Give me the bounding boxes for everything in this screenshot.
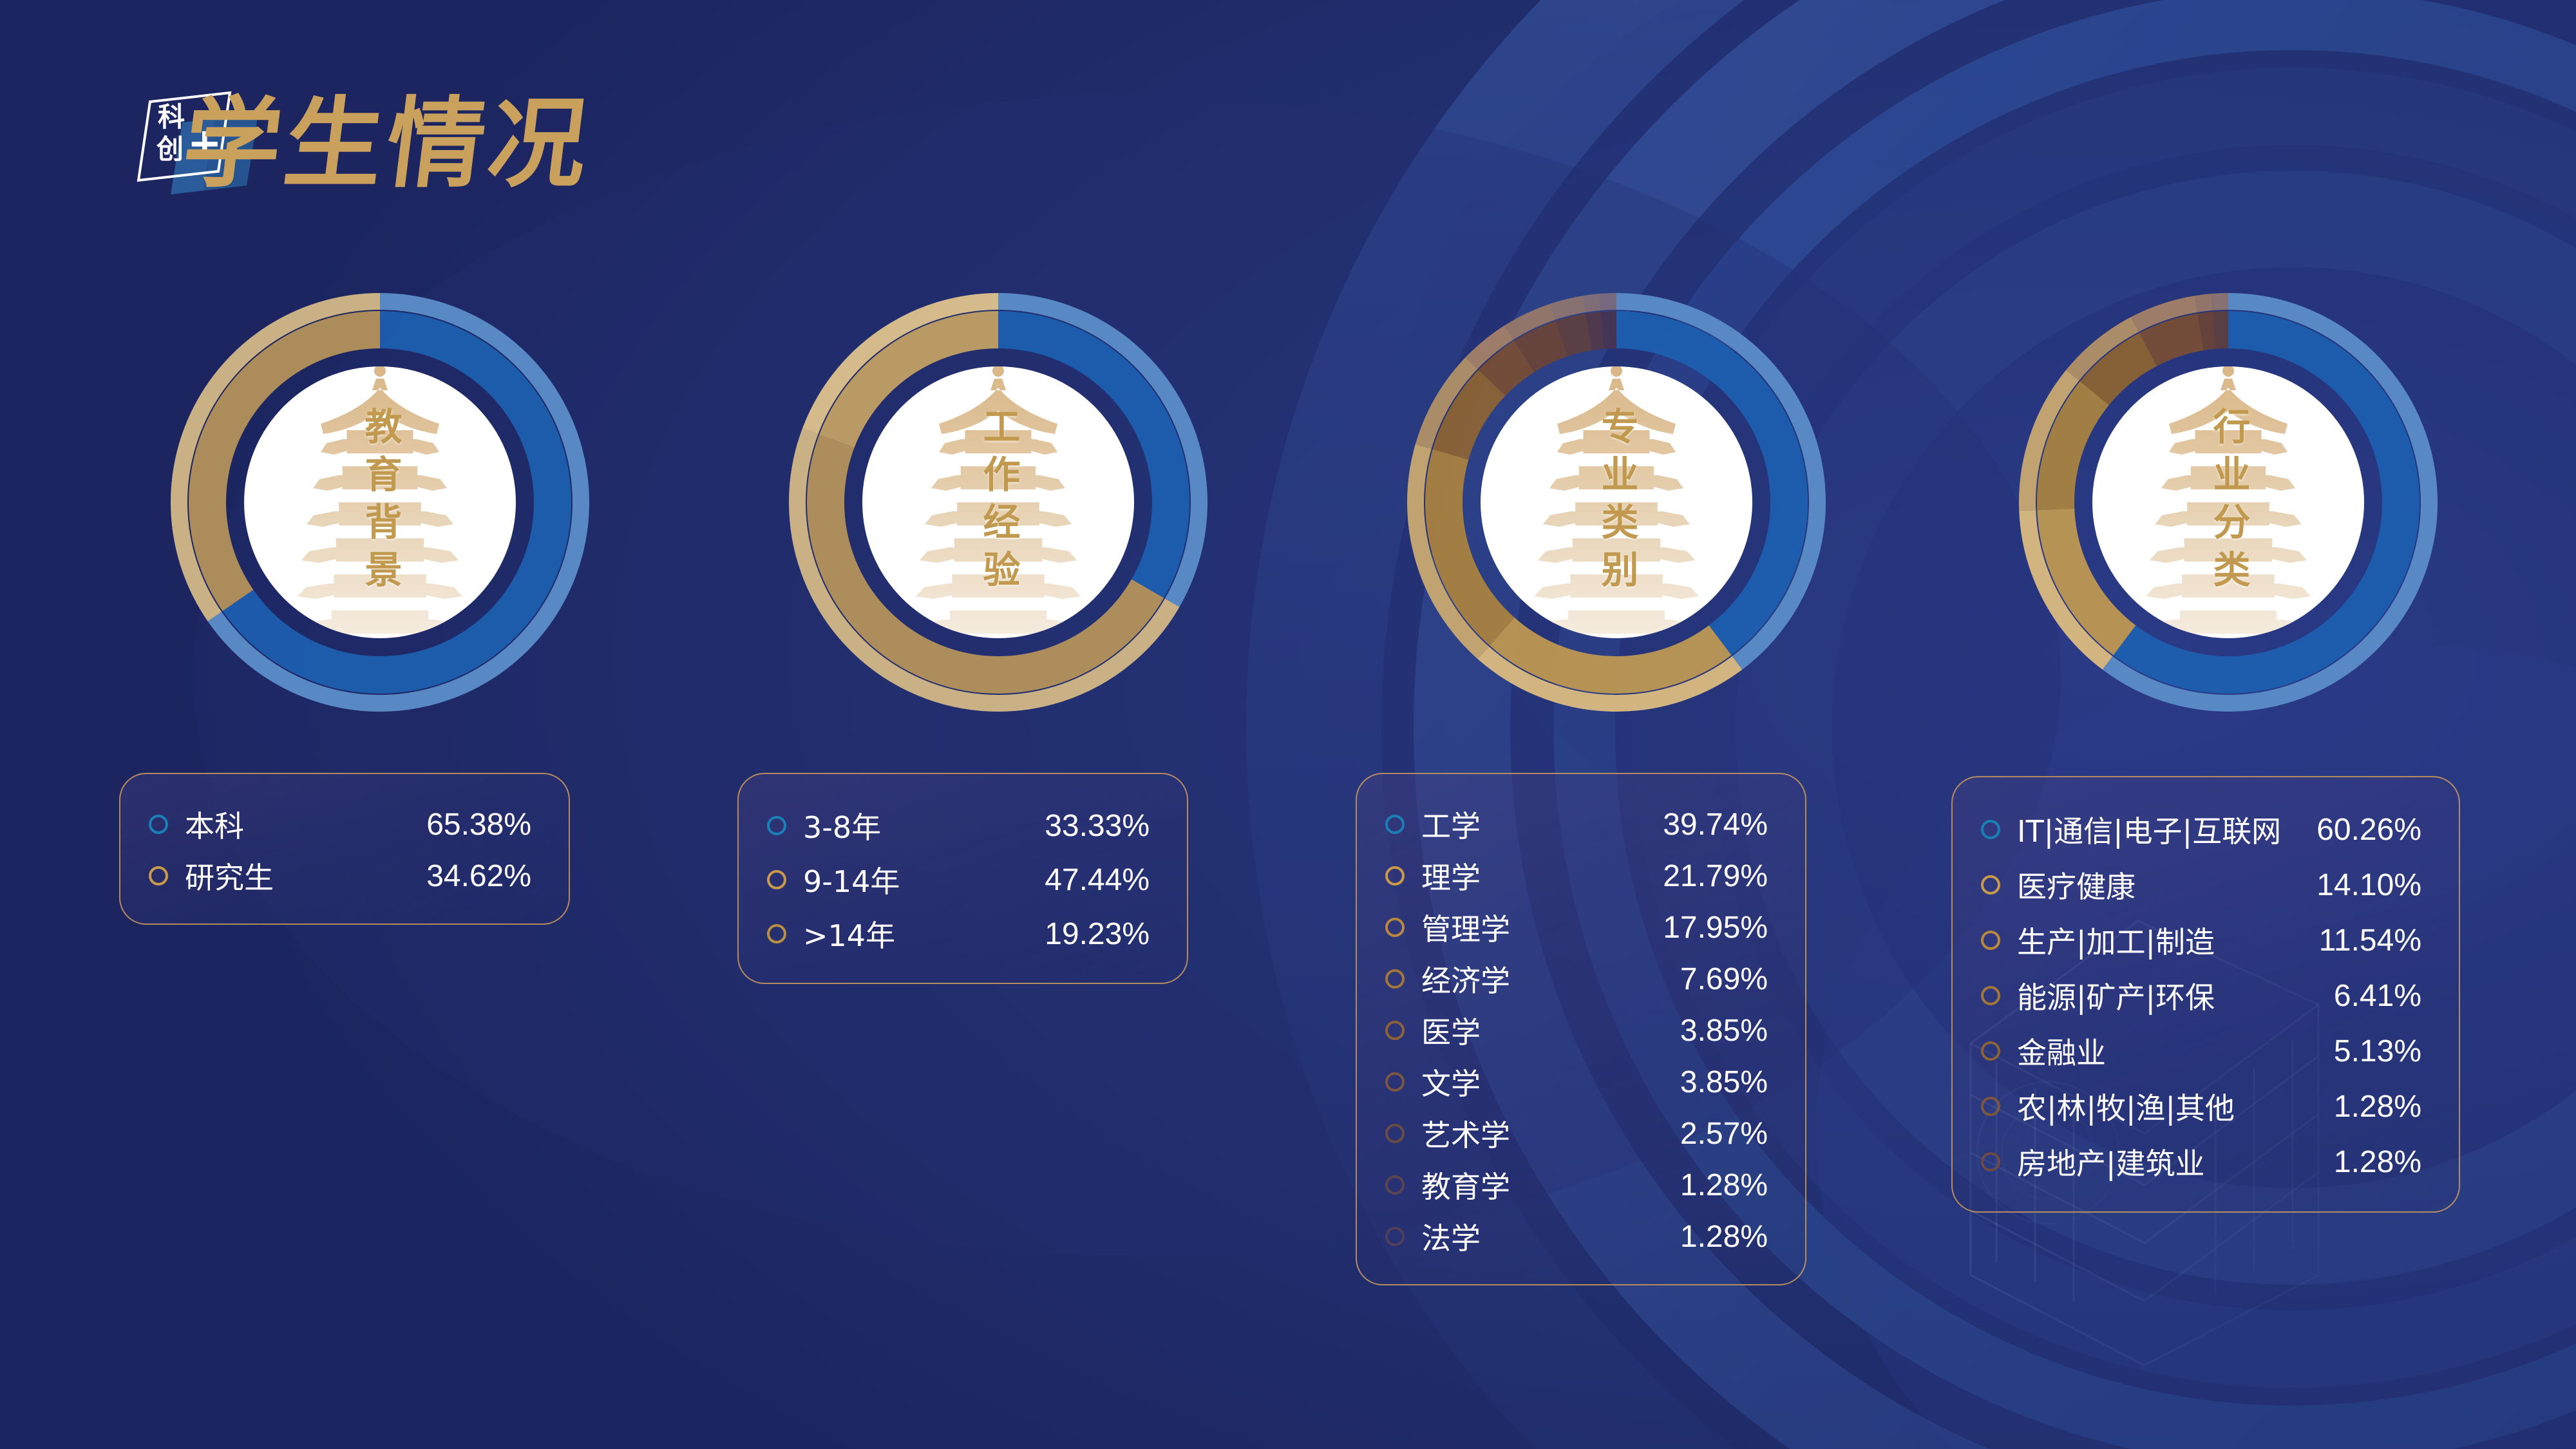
legend-marker-icon xyxy=(767,870,786,889)
slide-header: 科 创 + 学生情况 xyxy=(0,0,2576,270)
donut-outer-segment xyxy=(1600,301,1616,302)
legend-marker-icon xyxy=(1981,1152,2000,1171)
legend-value: 6.41% xyxy=(2308,978,2421,1014)
logo-text-chuang: 创 xyxy=(156,133,184,165)
donut-inner-segment xyxy=(1589,330,1602,332)
legend-row[interactable]: 金融业5.13% xyxy=(1981,1023,2421,1079)
legend-value: 47.44% xyxy=(1019,862,1150,898)
donut-svg-2 xyxy=(1391,277,1842,728)
legend-label: 医疗健康 xyxy=(2017,864,2136,906)
legend-value: 14.10% xyxy=(2291,867,2421,903)
donut-outer-segment xyxy=(1553,304,1584,312)
donut-chart-education-background: 教育背景 xyxy=(155,277,605,728)
donut-inner-segment xyxy=(1602,330,1616,330)
legend-label: IT|通信|电子|互联网 xyxy=(2017,808,2281,851)
chart-block-industry-category: 行业分类 xyxy=(1919,277,2537,728)
legend-row[interactable]: 工学39.74% xyxy=(1385,799,1768,850)
donut-chart-work-experience: 工作经验 xyxy=(773,277,1224,728)
legend-marker-icon xyxy=(1385,1021,1405,1040)
legend-value: 34.62% xyxy=(401,858,531,894)
legend-row[interactable]: 3-8年33.33% xyxy=(767,799,1150,853)
legend-card-education-background: 本科65.38%研究生34.62% xyxy=(119,773,570,925)
legend-value: 21.79% xyxy=(1637,858,1768,894)
legend-row[interactable]: 经济学7.69% xyxy=(1385,953,1768,1005)
legend-row[interactable]: 9-14年47.44% xyxy=(767,853,1150,907)
legend-row[interactable]: 本科65.38% xyxy=(149,799,531,850)
legend-row[interactable]: 文学3.85% xyxy=(1385,1056,1768,1108)
legend-value: 3.85% xyxy=(1654,1065,1768,1100)
legend-value: 1.28% xyxy=(2308,1089,2421,1124)
legend-row[interactable]: 农|林|牧|渔|其他1.28% xyxy=(1981,1079,2421,1134)
chart-block-work-experience: 工作经验 xyxy=(689,277,1307,728)
legend-marker-icon xyxy=(767,816,786,835)
legend-label: 金融业 xyxy=(2017,1030,2106,1072)
legend-row[interactable]: 生产|加工|制造11.54% xyxy=(1981,913,2421,968)
slide-canvas: 科 创 + 学生情况 教育背景 xyxy=(0,0,2576,1449)
legend-label: 法学 xyxy=(1421,1215,1481,1258)
donut-svg-1 xyxy=(773,277,1224,728)
legend-value: 33.33% xyxy=(1019,808,1150,844)
legend-label: 理学 xyxy=(1421,855,1481,897)
legend-row[interactable]: 法学1.28% xyxy=(1385,1211,1768,1262)
legend-row[interactable]: 教育学1.28% xyxy=(1385,1159,1768,1211)
legend-row[interactable]: 房地产|建筑业1.28% xyxy=(1981,1134,2421,1189)
legend-row[interactable]: IT|通信|电子|互联网60.26% xyxy=(1981,802,2421,857)
legend-label: 艺术学 xyxy=(1421,1112,1510,1155)
donut-inner-segment xyxy=(2201,330,2214,332)
legend-value: 19.23% xyxy=(1019,916,1150,952)
legend-row[interactable]: 能源|矿产|环保6.41% xyxy=(1981,968,2421,1023)
legend-card-industry-category: IT|通信|电子|互联网60.26%医疗健康14.10%生产|加工|制造11.5… xyxy=(1951,776,2460,1213)
legend-value: 1.28% xyxy=(2308,1144,2421,1180)
legend-value: 3.85% xyxy=(1654,1013,1768,1048)
legend-label: 房地产|建筑业 xyxy=(2017,1141,2205,1183)
legend-marker-icon xyxy=(1385,918,1405,937)
legend-label: 本科 xyxy=(185,803,244,846)
legend-marker-icon xyxy=(1385,969,1405,989)
legend-label: 生产|加工|制造 xyxy=(2017,919,2215,961)
legend-value: 1.28% xyxy=(1654,1219,1768,1255)
legend-label: 能源|矿产|环保 xyxy=(2017,974,2215,1017)
legend-marker-icon xyxy=(1981,1041,2000,1061)
legend-card-work-experience: 3-8年33.33%9-14年47.44%>14年19.23% xyxy=(737,773,1188,984)
legend-row[interactable]: 管理学17.95% xyxy=(1385,902,1768,953)
legend-marker-icon xyxy=(1981,931,2000,950)
legend-value: 11.54% xyxy=(2293,923,2421,958)
legend-row[interactable]: 医学3.85% xyxy=(1385,1005,1768,1056)
donut-svg-3 xyxy=(2003,277,2454,728)
chart-block-education-background: 教育背景 xyxy=(71,277,689,728)
donut-svg-0 xyxy=(155,277,605,728)
legend-label: >14年 xyxy=(803,913,895,955)
donut-chart-industry-category: 行业分类 xyxy=(2003,277,2454,728)
legend-row[interactable]: 研究生34.62% xyxy=(149,850,531,902)
donut-inner-segment xyxy=(1492,357,1524,383)
legend-value: 7.69% xyxy=(1654,961,1768,997)
legend-card-major-category: 工学39.74%理学21.79%管理学17.95%经济学7.69%医学3.85%… xyxy=(1356,773,1806,1285)
donut-inner-segment xyxy=(1524,339,1562,357)
legend-marker-icon xyxy=(1981,875,2000,895)
legend-label: 3-8年 xyxy=(803,804,881,847)
legend-value: 1.28% xyxy=(1654,1168,1768,1203)
legend-marker-icon xyxy=(1981,986,2000,1005)
legend-label: 经济学 xyxy=(1421,958,1510,1000)
legend-marker-icon xyxy=(1981,820,2000,839)
legend-row[interactable]: 艺术学2.57% xyxy=(1385,1108,1768,1159)
legend-value: 39.74% xyxy=(1637,807,1768,842)
legend-marker-icon xyxy=(1385,1072,1405,1092)
legend-label: 农|林|牧|渔|其他 xyxy=(2017,1085,2235,1128)
legend-marker-icon xyxy=(1385,815,1405,834)
legend-marker-icon xyxy=(149,866,168,885)
legend-label: 教育学 xyxy=(1421,1164,1510,1206)
legend-marker-icon xyxy=(1385,1227,1405,1246)
legend-value: 17.95% xyxy=(1637,910,1768,945)
donut-outer-segment xyxy=(2196,302,2212,304)
legend-marker-icon xyxy=(149,815,168,834)
legend-label: 研究生 xyxy=(185,855,274,897)
legend-row[interactable]: 理学21.79% xyxy=(1385,850,1768,902)
donut-inner-segment xyxy=(2056,393,2094,509)
donut-inner-segment xyxy=(2148,332,2201,349)
legend-marker-icon xyxy=(1981,1097,2000,1116)
legend-label: 医学 xyxy=(1421,1009,1481,1052)
legend-value: 65.38% xyxy=(401,807,531,842)
legend-label: 工学 xyxy=(1421,803,1481,846)
legend-value: 2.57% xyxy=(1654,1116,1768,1151)
legend-marker-icon xyxy=(767,924,786,943)
donut-inner-segment xyxy=(1562,332,1589,338)
logo-text-ke: 科 xyxy=(158,101,185,133)
legend-value: 60.26% xyxy=(2291,812,2421,848)
legend-row[interactable]: >14年19.23% xyxy=(767,907,1150,961)
legend-label: 9-14年 xyxy=(803,858,900,901)
legend-row[interactable]: 医疗健康14.10% xyxy=(1981,857,2421,913)
legend-label: 文学 xyxy=(1421,1061,1481,1103)
donut-chart-major-category: 专业类别 xyxy=(1391,277,1842,728)
legend-label: 管理学 xyxy=(1421,906,1510,949)
donut-inner-segment xyxy=(2214,330,2228,330)
legend-marker-icon xyxy=(1385,1175,1405,1195)
page-title: 学生情况 xyxy=(178,95,597,193)
legend-value: 5.13% xyxy=(2308,1034,2421,1069)
donut-outer-segment xyxy=(1584,302,1600,304)
chart-block-major-category: 专业类别 xyxy=(1307,277,1926,728)
legend-marker-icon xyxy=(1385,866,1405,885)
legend-marker-icon xyxy=(1385,1124,1405,1143)
donut-outer-segment xyxy=(2212,301,2228,302)
